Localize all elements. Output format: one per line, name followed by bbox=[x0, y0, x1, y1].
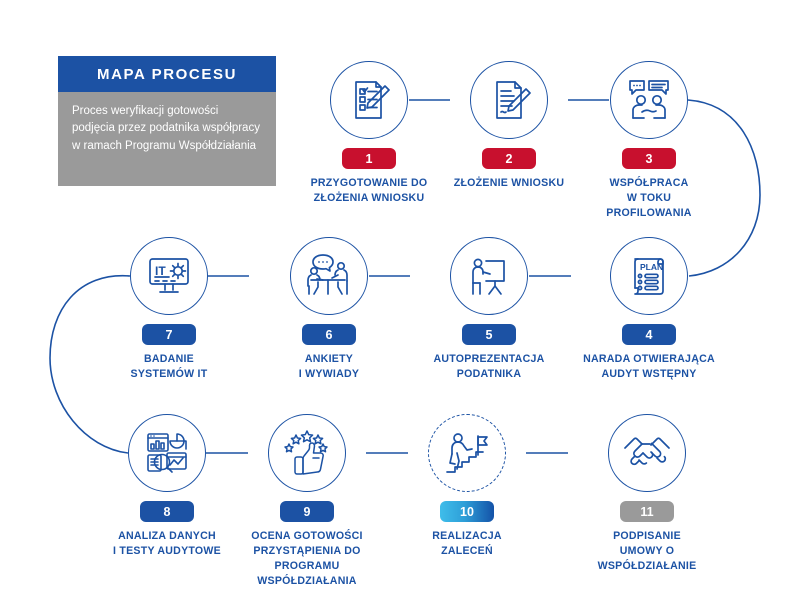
step-11-number: 11 bbox=[640, 505, 653, 519]
step-1-label: PRZYGOTOWANIE DO ZŁOŻENIA WNIOSKU bbox=[294, 176, 444, 206]
step-1-number: 1 bbox=[366, 152, 373, 166]
step-8-number: 8 bbox=[164, 505, 171, 519]
step-11-badge: 11 bbox=[620, 501, 674, 522]
step-10-circle bbox=[428, 414, 506, 492]
plan-scroll-icon: PLAN bbox=[626, 253, 672, 299]
step-4-badge: 4 bbox=[622, 324, 676, 345]
step-2-label: ZŁOŻENIE WNIOSKU bbox=[434, 176, 584, 191]
step-8-label: ANALIZA DANYCH I TESTY AUDYTOWE bbox=[92, 529, 242, 559]
step-1-circle bbox=[330, 61, 408, 139]
step-4[interactable]: PLAN 4 NARADA OTWIERAJĄCA AUDYT WSTĘPNY bbox=[574, 237, 724, 382]
step-7-circle: IT bbox=[130, 237, 208, 315]
step-10-badge: 10 bbox=[440, 501, 494, 522]
process-map-diagram: MAPA PROCESU Proces weryfikacji gotowośc… bbox=[0, 0, 812, 609]
step-5-circle bbox=[450, 237, 528, 315]
step-5-label: AUTOPREZENTACJA PODATNIKA bbox=[414, 352, 564, 382]
svg-text:IT: IT bbox=[155, 264, 166, 278]
step-3[interactable]: 3 WSPÓŁPRACA W TOKU PROFILOWANIA bbox=[574, 61, 724, 221]
step-7-number: 7 bbox=[166, 328, 173, 342]
step-11-label: PODPISANIE UMOWY O WSPÓŁDZIAŁANIE bbox=[572, 529, 722, 574]
step-9-circle bbox=[268, 414, 346, 492]
thumbs-up-stars-icon bbox=[283, 429, 331, 477]
step-11[interactable]: 11 PODPISANIE UMOWY O WSPÓŁDZIAŁANIE bbox=[572, 414, 722, 574]
step-4-circle: PLAN bbox=[610, 237, 688, 315]
charts-magnifier-icon bbox=[143, 429, 191, 477]
step-9[interactable]: 9 OCENA GOTOWOŚCI PRZYSTĄPIENIA DO PROGR… bbox=[232, 414, 382, 589]
step-6-label: ANKIETY I WYWIADY bbox=[254, 352, 404, 382]
step-5-number: 5 bbox=[486, 328, 493, 342]
step-2-badge: 2 bbox=[482, 148, 536, 169]
step-2-circle bbox=[470, 61, 548, 139]
title-card-heading: MAPA PROCESU bbox=[97, 66, 237, 83]
title-card-header: MAPA PROCESU bbox=[58, 56, 276, 92]
step-1-badge: 1 bbox=[342, 148, 396, 169]
step-8[interactable]: 8 ANALIZA DANYCH I TESTY AUDYTOWE bbox=[92, 414, 242, 559]
title-card-body: Proces weryfikacji gotowości podjęcia pr… bbox=[58, 92, 276, 186]
two-people-chat-icon bbox=[625, 76, 673, 124]
step-10[interactable]: 10 REALIZACJA ZALECEŃ bbox=[392, 414, 542, 559]
step-9-label: OCENA GOTOWOŚCI PRZYSTĄPIENIA DO PROGRAM… bbox=[232, 529, 382, 589]
step-5[interactable]: 5 AUTOPREZENTACJA PODATNIKA bbox=[414, 237, 564, 382]
step-7[interactable]: IT 7 BADANIE SYSTEMÓW IT bbox=[94, 237, 244, 382]
step-7-badge: 7 bbox=[142, 324, 196, 345]
step-9-badge: 9 bbox=[280, 501, 334, 522]
step-4-number: 4 bbox=[646, 328, 653, 342]
step-3-label: WSPÓŁPRACA W TOKU PROFILOWANIA bbox=[574, 176, 724, 221]
title-card: MAPA PROCESU Proces weryfikacji gotowośc… bbox=[58, 56, 276, 186]
step-3-badge: 3 bbox=[622, 148, 676, 169]
title-card-description: Proces weryfikacji gotowości podjęcia pr… bbox=[72, 103, 262, 155]
checklist-pencil-icon bbox=[346, 77, 392, 123]
person-stairs-flag-icon bbox=[444, 430, 490, 476]
presenter-whiteboard-icon bbox=[466, 253, 512, 299]
step-6-number: 6 bbox=[326, 328, 333, 342]
svg-text:PLAN: PLAN bbox=[640, 262, 663, 272]
step-4-label: NARADA OTWIERAJĄCA AUDYT WSTĘPNY bbox=[574, 352, 724, 382]
step-6-badge: 6 bbox=[302, 324, 356, 345]
step-3-circle bbox=[610, 61, 688, 139]
monitor-gear-it-icon: IT bbox=[145, 252, 193, 300]
document-pencil-icon bbox=[486, 77, 532, 123]
step-11-circle bbox=[608, 414, 686, 492]
step-6-circle bbox=[290, 237, 368, 315]
step-7-label: BADANIE SYSTEMÓW IT bbox=[94, 352, 244, 382]
step-10-number: 10 bbox=[460, 505, 474, 519]
interview-table-icon bbox=[305, 252, 353, 300]
step-2-number: 2 bbox=[506, 152, 513, 166]
step-2[interactable]: 2 ZŁOŻENIE WNIOSKU bbox=[434, 61, 584, 191]
step-9-number: 9 bbox=[304, 505, 311, 519]
step-8-circle bbox=[128, 414, 206, 492]
step-6[interactable]: 6 ANKIETY I WYWIADY bbox=[254, 237, 404, 382]
step-1[interactable]: 1 PRZYGOTOWANIE DO ZŁOŻENIA WNIOSKU bbox=[294, 61, 444, 206]
step-3-number: 3 bbox=[646, 152, 653, 166]
step-8-badge: 8 bbox=[140, 501, 194, 522]
handshake-icon bbox=[623, 432, 671, 474]
step-5-badge: 5 bbox=[462, 324, 516, 345]
step-10-label: REALIZACJA ZALECEŃ bbox=[392, 529, 542, 559]
